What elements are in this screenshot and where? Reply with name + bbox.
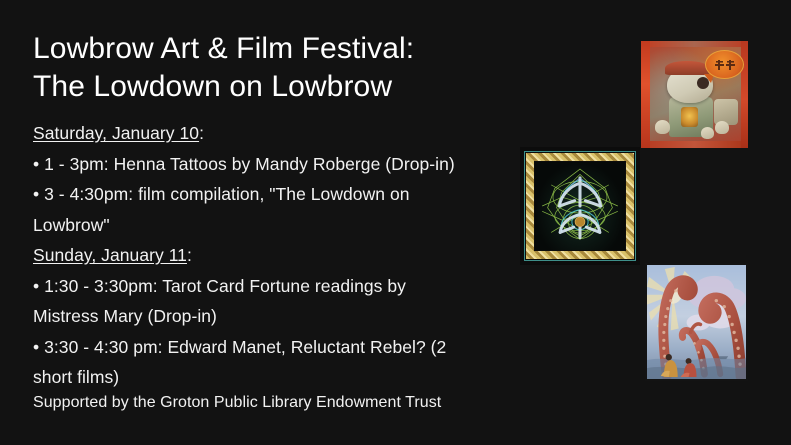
painting-edge-bottom [641, 141, 748, 148]
painting-bubble-glyph [714, 59, 724, 70]
day-label-saturday: Saturday, January 10 [33, 123, 199, 143]
artwork-center-medallion [575, 217, 585, 227]
painting-lantern [681, 107, 698, 127]
schedule-item: • 3 - 4:30pm: film compilation, "The Low… [33, 179, 503, 210]
artwork-gold-framed-geometric [520, 147, 640, 265]
schedule-block: Saturday, January 10: • 1 - 3pm: Henna T… [33, 118, 503, 393]
day-colon-saturday: : [199, 123, 204, 143]
day-colon-sunday: : [187, 245, 192, 265]
octopus-scene [647, 265, 746, 379]
frame-inner-artwork [535, 162, 625, 250]
painting-speech-bubble [705, 50, 744, 79]
day-label-sunday: Sunday, January 11 [33, 245, 187, 265]
festival-slide: Lowbrow Art & Film Festival: The Lowdown… [0, 0, 791, 445]
geometric-linework [535, 162, 625, 250]
schedule-item: • 3:30 - 4:30 pm: Edward Manet, Reluctan… [33, 332, 503, 363]
painting-edge-top [641, 41, 748, 47]
schedule-item: • 1:30 - 3:30pm: Tarot Card Fortune read… [33, 271, 503, 302]
painting-creature-hat [665, 61, 709, 75]
schedule-item: • 1 - 3pm: Henna Tattoos by Mandy Roberg… [33, 149, 503, 180]
painting-skull [655, 120, 670, 134]
painting-bubble-glyph [725, 59, 735, 70]
schedule-item: Mistress Mary (Drop-in) [33, 301, 503, 332]
painting-skull [715, 121, 729, 134]
sponsor-credit: Supported by the Groton Public Library E… [33, 391, 553, 415]
artwork-octopus-tentacles [645, 263, 748, 381]
text-column: Lowbrow Art & Film Festival: The Lowdown… [33, 30, 503, 393]
painting-edge-left [641, 41, 650, 148]
schedule-item: Lowbrow" [33, 210, 503, 241]
painting-skull [701, 127, 714, 139]
schedule-item: short films) [33, 362, 503, 393]
schedule-day-saturday: Saturday, January 10: [33, 118, 503, 149]
artwork-creature-with-speech-bubble [641, 41, 748, 148]
page-title: Lowbrow Art & Film Festival: The Lowdown… [33, 30, 503, 106]
painting-edge-right [741, 41, 748, 148]
schedule-day-sunday: Sunday, January 11: [33, 240, 503, 271]
